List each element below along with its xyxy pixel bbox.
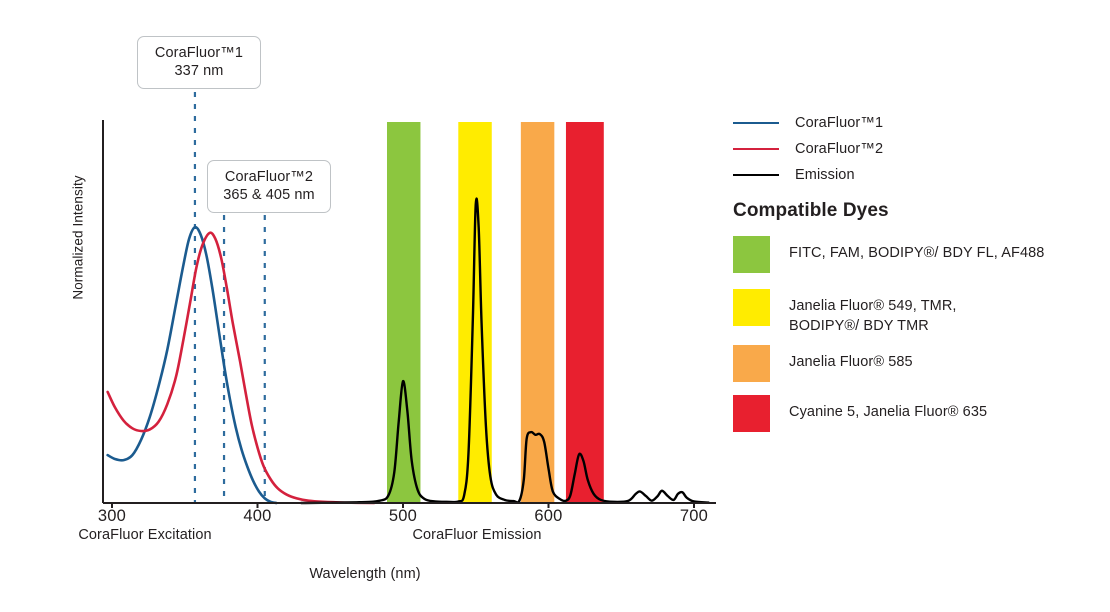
callout-corafluor-1: CoraFluor™1 337 nm [137,36,261,89]
dye-label-line1: FITC, FAM, BODIPY®/ BDY FL, AF488 [789,245,1044,261]
dye-label-line1: Janelia Fluor® 549, TMR, [789,298,957,314]
dye-color-swatch [733,345,770,382]
dye-item-3[interactable]: Janelia Fluor® 585 [733,345,913,382]
plot-area: Normalized Intensity 300400500600700 Cor… [0,0,730,612]
legend-label: CoraFluor™2 [795,141,883,157]
excitation-range-label: CoraFluor Excitation [25,527,265,543]
band-fitc-band [387,122,420,503]
x-tick-label-500: 500 [373,507,433,526]
x-tick-label-400: 400 [228,507,288,526]
curve-corafluor-1 [108,227,277,503]
dye-label: Cyanine 5, Janelia Fluor® 635 [789,395,987,423]
x-tick-label-600: 600 [519,507,579,526]
chart-figure: Normalized Intensity 300400500600700 Cor… [0,0,1110,612]
dye-label-line1: Cyanine 5, Janelia Fluor® 635 [789,404,987,420]
x-tick-label-300: 300 [82,507,142,526]
legend-line-swatch-icon [733,122,779,124]
curve-emission [301,199,708,503]
dye-color-swatch [733,236,770,273]
callout-corafluor-2: CoraFluor™2 365 & 405 nm [207,160,331,213]
dye-item-1[interactable]: FITC, FAM, BODIPY®/ BDY FL, AF488 [733,236,1044,273]
y-axis-title: Normalized Intensity [71,138,86,338]
x-tick-label-700: 700 [664,507,724,526]
curve-corafluor-2 [108,233,374,503]
legend-line-swatch-icon [733,174,779,176]
emission-range-label: CoraFluor Emission [357,527,597,543]
dye-label-line1: Janelia Fluor® 585 [789,354,913,370]
dye-label: Janelia Fluor® 549, TMR,BODIPY®/ BDY TMR [789,289,957,336]
callout-corafluor-1-line1: CoraFluor™1 [148,44,250,62]
legend-item-corafluor-1[interactable]: CoraFluor™1 [733,115,883,131]
callout-corafluor-2-line1: CoraFluor™2 [218,168,320,186]
legend-panel: CoraFluor™1CoraFluor™2Emission Compatibl… [733,0,1110,612]
band-cyanine-5-band [566,122,604,503]
dye-label-line2: BODIPY®/ BDY TMR [789,317,957,337]
legend-item-emission[interactable]: Emission [733,167,855,183]
legend-label: Emission [795,167,855,183]
dye-label: FITC, FAM, BODIPY®/ BDY FL, AF488 [789,236,1044,264]
legend-item-corafluor-2[interactable]: CoraFluor™2 [733,141,883,157]
legend-label: CoraFluor™1 [795,115,883,131]
legend-line-swatch-icon [733,148,779,150]
callout-corafluor-1-line2: 337 nm [148,62,250,80]
callout-corafluor-2-line2: 365 & 405 nm [218,186,320,204]
dye-label: Janelia Fluor® 585 [789,345,913,373]
excitation-marker-lines [195,92,265,503]
compatible-dyes-title: Compatible Dyes [733,200,889,222]
dye-color-swatch [733,289,770,326]
wavelength-bands [387,122,604,503]
dye-item-4[interactable]: Cyanine 5, Janelia Fluor® 635 [733,395,987,432]
dye-item-2[interactable]: Janelia Fluor® 549, TMR,BODIPY®/ BDY TMR [733,289,957,336]
dye-color-swatch [733,395,770,432]
x-axis-title: Wavelength (nm) [245,566,485,582]
